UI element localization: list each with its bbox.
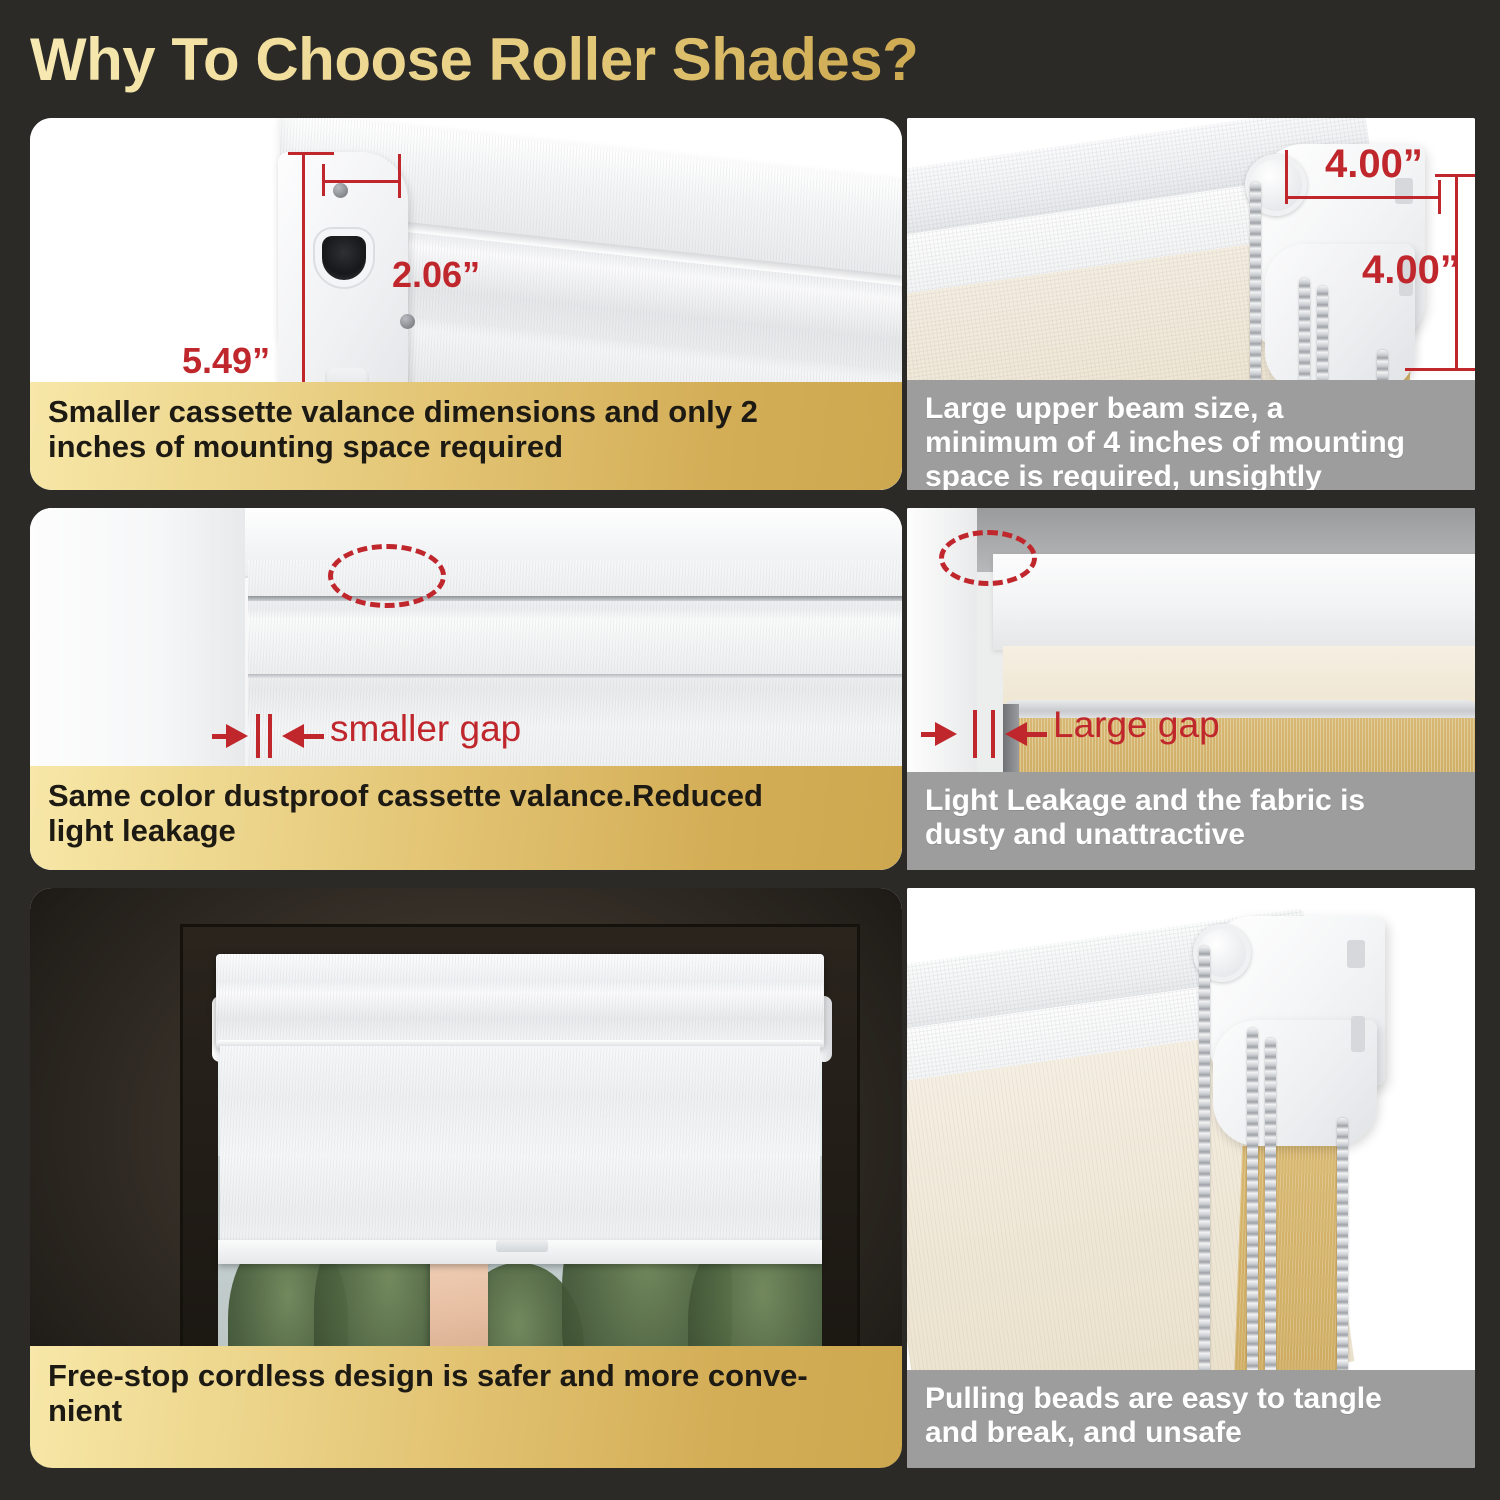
beam-width-label: 4.00” (1325, 142, 1423, 187)
beam-width-dimension-line (1285, 196, 1441, 199)
caption-line: Light Leakage and the fabric is (925, 784, 1457, 818)
panel-pulling-beads: Pulling beads are easy to tangle and bre… (907, 888, 1475, 1468)
beam-height-label: 4.00” (1362, 248, 1460, 293)
bracket-slot (1351, 1016, 1365, 1052)
gap-marker (256, 714, 260, 758)
caption-line: light leakage (48, 813, 884, 848)
bead-chain (1199, 946, 1210, 1428)
height-dimension-label: 5.49” (182, 340, 270, 382)
shade-fabric (220, 1046, 820, 1258)
panel-cordless-design: Free-stop cordless design is safer and m… (30, 888, 902, 1468)
infographic-page: Why To Choose Roller Shades? 2.06” (0, 0, 1500, 1500)
screw-icon (400, 314, 415, 329)
panel-large-gap-caption: Light Leakage and the fabric is dusty an… (907, 772, 1475, 870)
beam-width-tick-left (1285, 150, 1288, 204)
caption-line: and break, and unsafe (925, 1416, 1457, 1450)
width-tick-right (398, 154, 401, 198)
width-dimension-line (322, 180, 400, 183)
caption-line: Pulling beads are easy to tangle (925, 1382, 1457, 1416)
large-gap-label: Large gap (1053, 704, 1220, 746)
page-title: Why To Choose Roller Shades? (30, 24, 1180, 96)
width-tick-left (322, 164, 325, 196)
panel-smaller-gap: smaller gap Same color dustproof cassett… (30, 508, 902, 870)
caption-line: Same color dustproof cassette valance.Re… (48, 778, 884, 813)
caption-line: nient (48, 1393, 884, 1428)
shade-fabric-cream (1003, 646, 1475, 706)
height-tick-top (288, 152, 334, 155)
beam-width-tick-right (1438, 180, 1441, 214)
caption-line: space is required, unsightly (925, 460, 1457, 490)
gap-arrow-stem (921, 732, 947, 737)
cassette-cord-slot (322, 236, 366, 280)
caption-line: dusty and unattractive (925, 818, 1457, 852)
cassette-seam-secondary (248, 674, 902, 678)
panel-large-gap: Large gap Light Leakage and the fabric i… (907, 508, 1475, 870)
cassette-valance (216, 954, 824, 1046)
upper-beam (993, 554, 1475, 650)
panel-cassette-dimensions: 2.06” 5.49” Smaller cassette valance dim… (30, 118, 902, 490)
gap-marker (973, 710, 977, 758)
panel-cordless-design-caption: Free-stop cordless design is safer and m… (30, 1346, 902, 1468)
gap-arrow-stem (212, 734, 238, 739)
gap-marker (991, 710, 995, 758)
bracket-slot (1347, 940, 1365, 968)
smaller-gap-label: smaller gap (330, 708, 521, 750)
bead-chain (1247, 1028, 1258, 1428)
caption-line: minimum of 4 inches of mounting (925, 426, 1457, 460)
panel-cassette-dimensions-caption: Smaller cassette valance dimensions and … (30, 382, 902, 490)
highlight-ellipse-icon (328, 544, 446, 608)
caption-line: Smaller cassette valance dimensions and … (48, 394, 884, 429)
gap-marker (268, 714, 272, 758)
width-dimension-label: 2.06” (392, 254, 480, 296)
gap-arrow-stem (298, 734, 324, 739)
caption-line: Large upper beam size, a (925, 392, 1457, 426)
beam-height-tick-bottom (1405, 368, 1475, 371)
caption-line: Free-stop cordless design is safer and m… (48, 1358, 884, 1393)
rail-handle (496, 1240, 548, 1252)
gap-arrow-stem (1021, 732, 1047, 737)
panel-pulling-beads-caption: Pulling beads are easy to tangle and bre… (907, 1370, 1475, 1468)
caption-line: inches of mounting space required (48, 429, 884, 464)
panel-large-beam: 4.00” 4.00” Large upper beam size, a min… (907, 118, 1475, 490)
panel-large-beam-caption: Large upper beam size, a minimum of 4 in… (907, 380, 1475, 490)
beam-height-tick-top (1435, 174, 1475, 177)
screw-icon (333, 183, 348, 198)
panel-smaller-gap-caption: Same color dustproof cassette valance.Re… (30, 766, 902, 870)
highlight-ellipse-icon (939, 530, 1037, 586)
